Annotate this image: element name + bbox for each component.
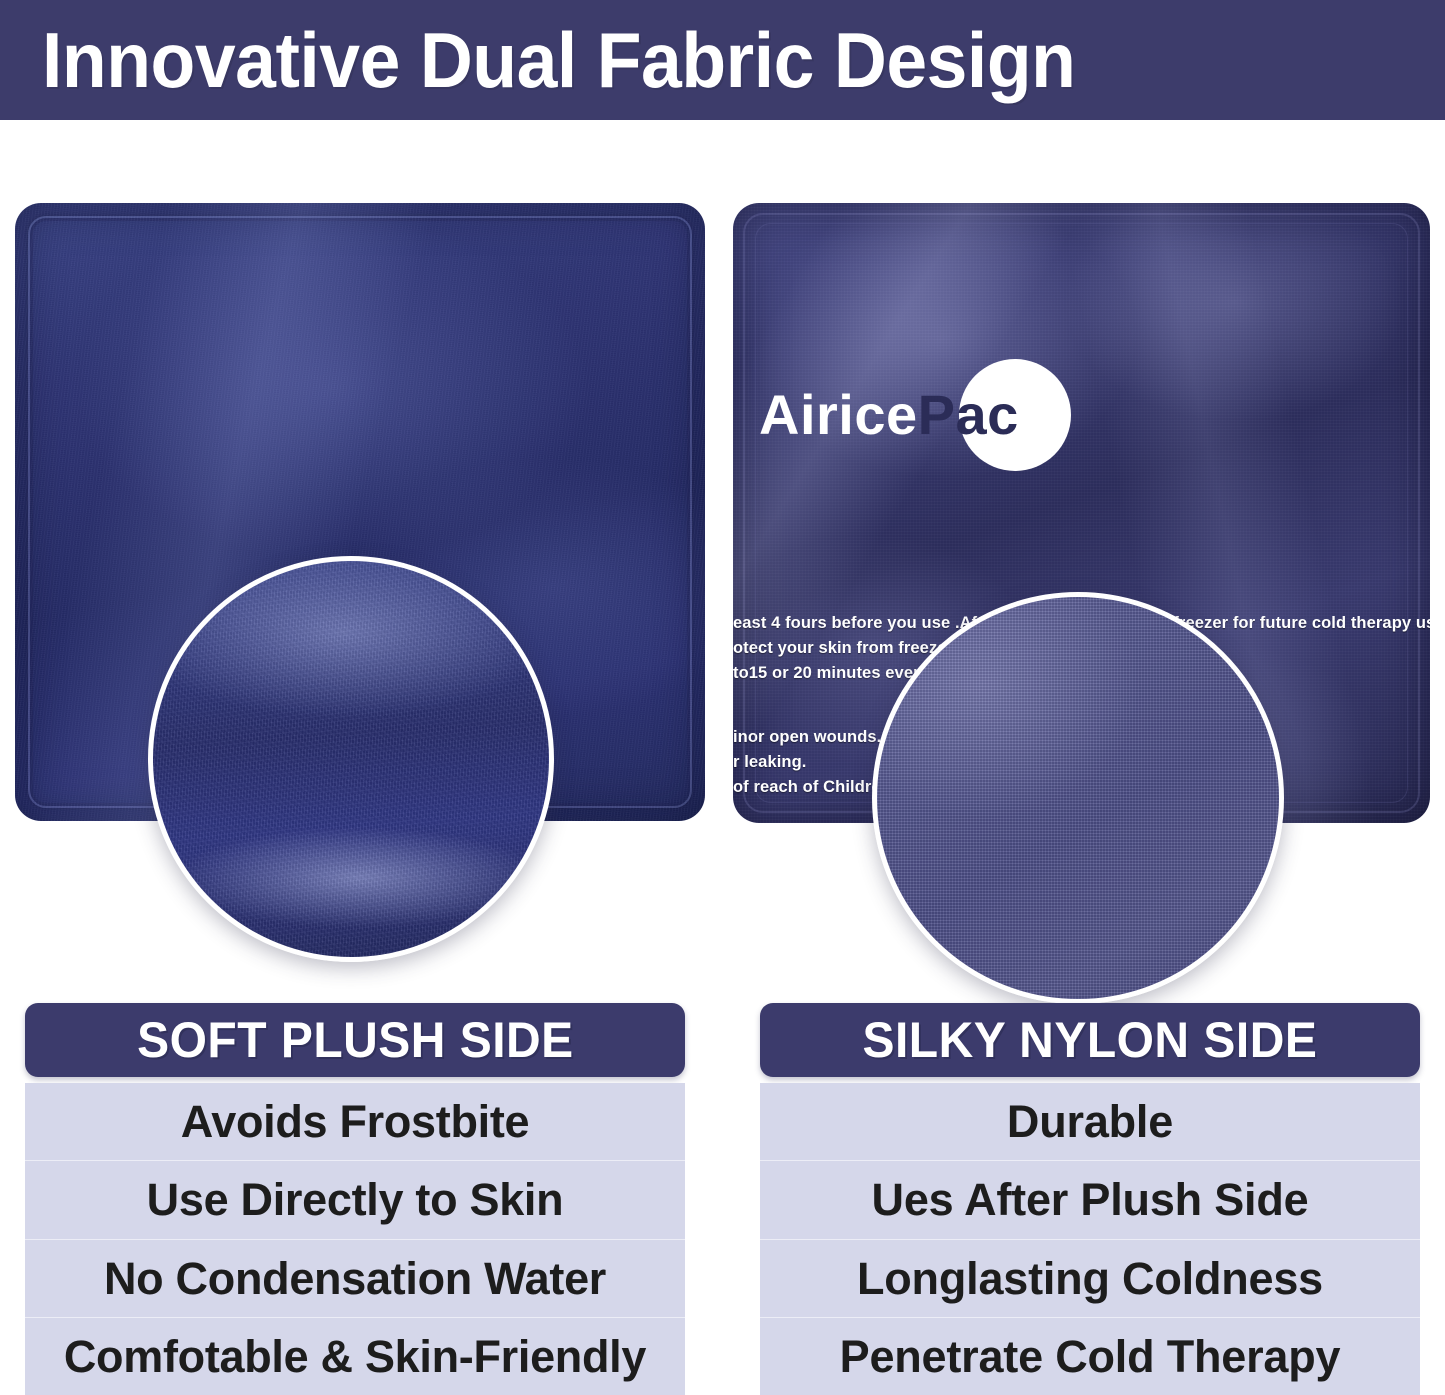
feature-item: No Condensation Water — [25, 1239, 685, 1317]
feature-item: Durable — [760, 1083, 1420, 1160]
feature-item: Longlasting Coldness — [760, 1239, 1420, 1317]
product-images-area: AiricePac east 4 fours before you use .A… — [0, 120, 1445, 980]
feature-column-nylon: SILKY NYLON SIDE Durable Ues After Plush… — [760, 1003, 1420, 1395]
page-title: Innovative Dual Fabric Design — [42, 21, 1075, 99]
feature-badge-nylon: SILKY NYLON SIDE — [760, 1003, 1420, 1077]
plush-fabric-magnifier-circle — [148, 556, 554, 962]
brand-name-secondary: Pac — [918, 383, 1019, 446]
brand-name-primary: Airice — [759, 383, 918, 446]
feature-list-plush: Avoids Frostbite Use Directly to Skin No… — [25, 1083, 685, 1395]
nylon-fabric-magnifier-circle — [872, 592, 1284, 1004]
feature-column-plush: SOFT PLUSH SIDE Avoids Frostbite Use Dir… — [25, 1003, 685, 1395]
feature-item: Penetrate Cold Therapy — [760, 1317, 1420, 1395]
feature-badge-label: SOFT PLUSH SIDE — [137, 1015, 574, 1065]
feature-item: Avoids Frostbite — [25, 1083, 685, 1160]
brand-logo: AiricePac — [745, 361, 1105, 469]
plush-closeup-texture — [153, 561, 549, 957]
brand-logo-text: AiricePac — [745, 387, 1019, 443]
feature-list-nylon: Durable Ues After Plush Side Longlasting… — [760, 1083, 1420, 1395]
feature-item: Use Directly to Skin — [25, 1160, 685, 1238]
feature-badge-plush: SOFT PLUSH SIDE — [25, 1003, 685, 1077]
feature-item: Ues After Plush Side — [760, 1160, 1420, 1238]
feature-item: Comfotable & Skin-Friendly — [25, 1317, 685, 1395]
header-banner: Innovative Dual Fabric Design — [0, 0, 1445, 120]
nylon-closeup-texture — [877, 597, 1279, 999]
feature-columns: SOFT PLUSH SIDE Avoids Frostbite Use Dir… — [0, 1003, 1445, 1395]
feature-badge-label: SILKY NYLON SIDE — [863, 1015, 1318, 1065]
